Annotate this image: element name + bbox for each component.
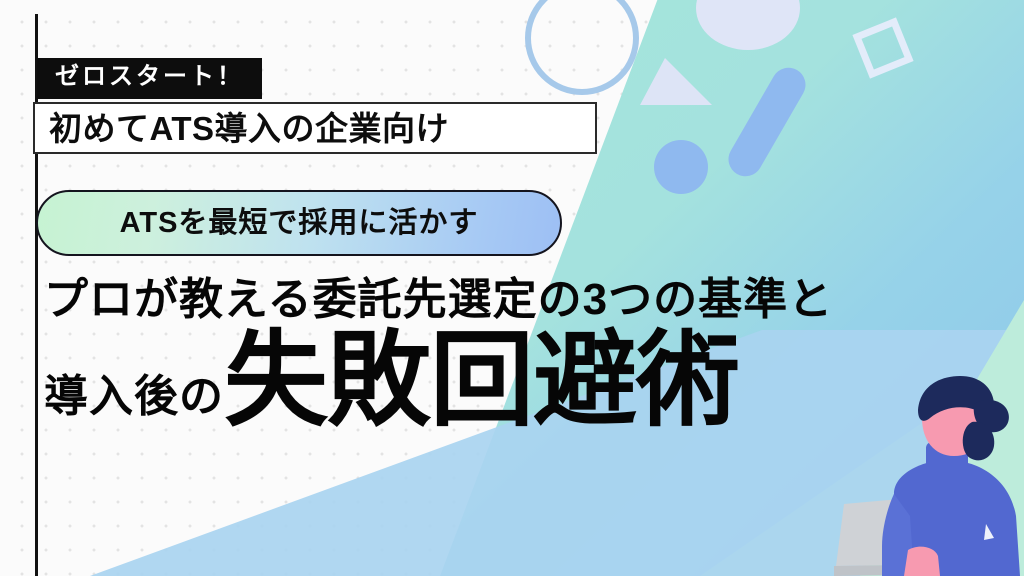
pill-label: ATSを最短で採用に活かす bbox=[120, 209, 479, 238]
headline-line-2-prefix: 導入後の bbox=[44, 375, 224, 431]
subheadline-box: 初めてATS導入の企業向け bbox=[33, 102, 597, 154]
gradient-pill-badge: ATSを最短で採用に活かす bbox=[36, 190, 562, 256]
eyebrow-tag: ゼロスタート！ bbox=[37, 58, 262, 99]
headline-line-1: プロが教える委託先選定の3つの基準と bbox=[44, 278, 1004, 322]
person-body bbox=[882, 460, 1020, 576]
headline-line-2-emphasis: 失敗回避術 bbox=[224, 332, 739, 431]
subheadline-text: 初めてATS導入の企業向け bbox=[35, 112, 449, 145]
main-headline: プロが教える委託先選定の3つの基準と 導入後の 失敗回避術 bbox=[44, 278, 1004, 431]
slide-canvas: ゼロスタート！ 初めてATS導入の企業向け ATSを最短で採用に活かす プロが教… bbox=[0, 0, 1024, 576]
headline-line-2: 導入後の 失敗回避術 bbox=[44, 332, 1004, 431]
